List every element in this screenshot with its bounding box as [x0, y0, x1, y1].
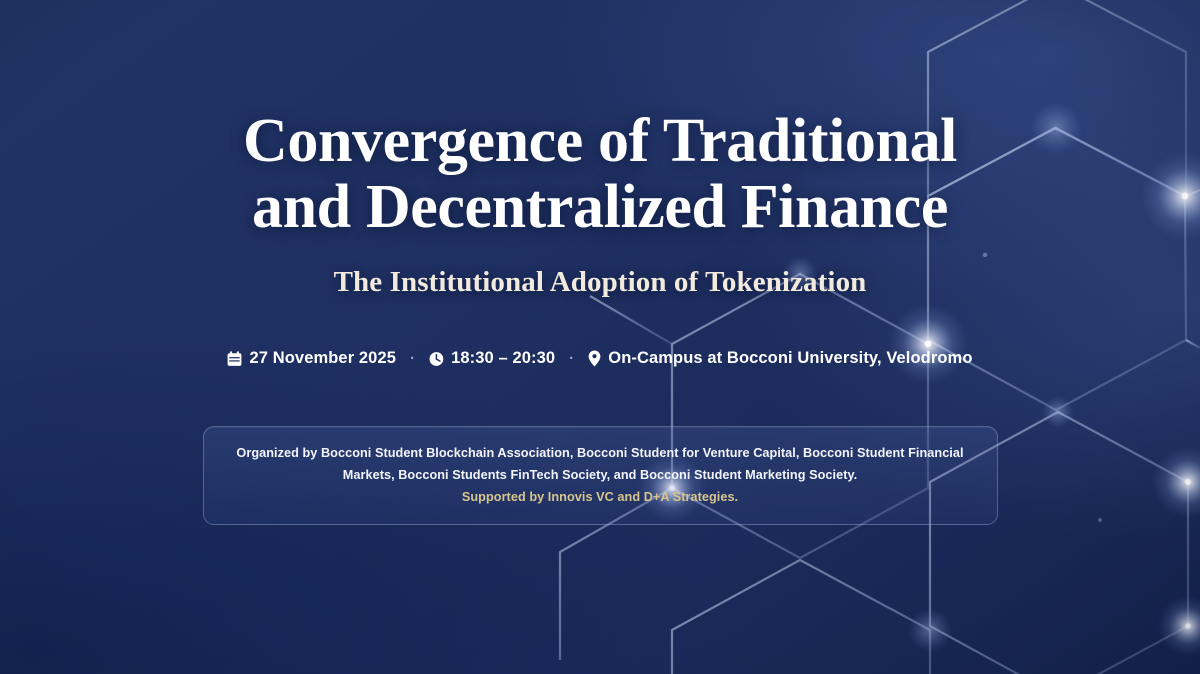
map-pin-icon — [588, 350, 601, 367]
event-date-label: 27 November 2025 — [249, 349, 396, 368]
event-date: 27 November 2025 — [227, 349, 396, 368]
event-time-label: 18:30 – 20:30 — [451, 349, 555, 368]
banner-content: Convergence of Traditional and Decentral… — [0, 0, 1200, 674]
event-location-label: On-Campus at Bocconi University, Velodro… — [608, 349, 972, 368]
event-banner: Convergence of Traditional and Decentral… — [0, 0, 1200, 674]
event-title-line-1: Convergence of Traditional — [243, 108, 957, 174]
clock-icon — [429, 351, 444, 367]
calendar-icon — [227, 351, 242, 367]
event-meta-row: 27 November 2025 · 18:30 – 20:30 · On-Ca… — [150, 349, 1050, 368]
meta-separator-2: · — [555, 351, 588, 366]
event-time: 18:30 – 20:30 — [429, 349, 555, 368]
meta-separator-1: · — [396, 351, 429, 366]
event-title: Convergence of Traditional and Decentral… — [243, 108, 957, 241]
supporters-line: Supported by Innovis VC and D+A Strategi… — [234, 487, 967, 509]
event-location: On-Campus at Bocconi University, Velodro… — [588, 349, 972, 368]
organizers-line-1: Organized by Bocconi Student Blockchain … — [234, 443, 967, 465]
organizers-card: Organized by Bocconi Student Blockchain … — [203, 426, 998, 525]
organizers-line-2: Markets, Bocconi Students FinTech Societ… — [234, 465, 967, 487]
event-subtitle: The Institutional Adoption of Tokenizati… — [150, 265, 1050, 300]
event-title-line-2: and Decentralized Finance — [243, 174, 957, 240]
